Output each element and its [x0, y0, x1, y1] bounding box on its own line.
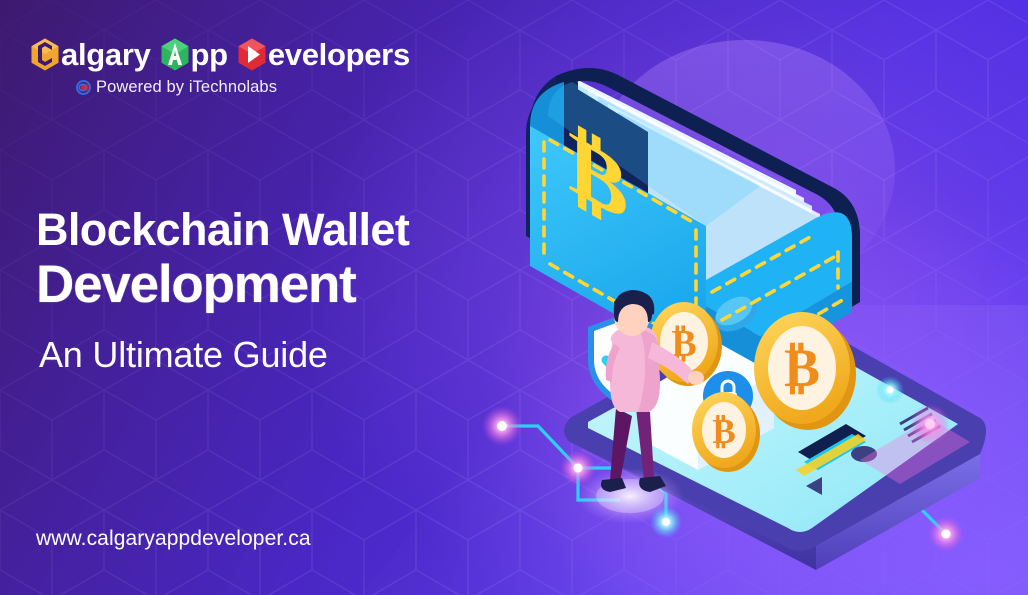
smartphone-device — [564, 308, 986, 570]
background-light-wedge — [330, 305, 1028, 595]
logo-word-calgary: algary — [61, 39, 151, 70]
logo-tagline-text: Powered by iTechnolabs — [96, 78, 277, 97]
security-shield-check-icon — [588, 314, 660, 408]
logo-word-app: pp — [191, 39, 228, 70]
svg-text:₿: ₿ — [712, 412, 735, 451]
phone-nav-controls — [806, 408, 940, 495]
bitcoin-wallet: ₿ — [526, 68, 860, 366]
ring-logo-icon — [76, 80, 91, 95]
headline-line-1: Blockchain Wallet — [36, 206, 409, 255]
svg-text:₿: ₿ — [784, 338, 820, 398]
background-glow-bottom-right — [548, 215, 1028, 595]
illustration-blockchain-wallet: ₿ ₿ ₿ — [460, 30, 1028, 575]
bitcoin-coin-small: ₿ — [692, 392, 760, 472]
svg-text:₿: ₿ — [671, 323, 696, 365]
svg-text:₿: ₿ — [568, 112, 628, 242]
padlock-icon — [703, 371, 753, 421]
hex-c-icon — [30, 38, 60, 71]
website-url[interactable]: www.calgaryappdeveloper.ca — [36, 527, 311, 551]
headline-line-2: Development — [36, 257, 409, 313]
hex-a-icon — [160, 38, 190, 71]
background-glow-mid — [480, 120, 1028, 595]
bitcoin-coin-large: ₿ — [754, 312, 856, 430]
page-title: Blockchain Wallet Development An Ultimat… — [36, 206, 409, 374]
person-figure — [576, 290, 704, 524]
wallet-bitcoin-symbol: ₿ — [568, 112, 628, 242]
hex-d-icon — [237, 38, 267, 71]
logo-word-developers: evelopers — [268, 39, 410, 70]
brand-logo-wordmark: algary pp evelopers — [30, 38, 410, 71]
brand-logo[interactable]: algary pp evelopers — [30, 38, 410, 97]
logo-tagline: Powered by iTechnolabs — [76, 78, 410, 97]
banner-root: ₿ ₿ ₿ — [0, 0, 1028, 595]
wallet-card-on-screen — [646, 344, 774, 470]
bitcoin-coin-medium: ₿ — [650, 302, 722, 386]
headline-subtitle: An Ultimate Guide — [39, 335, 409, 375]
circuit-line-network — [502, 390, 946, 534]
circuit-glow-nodes — [482, 376, 964, 552]
